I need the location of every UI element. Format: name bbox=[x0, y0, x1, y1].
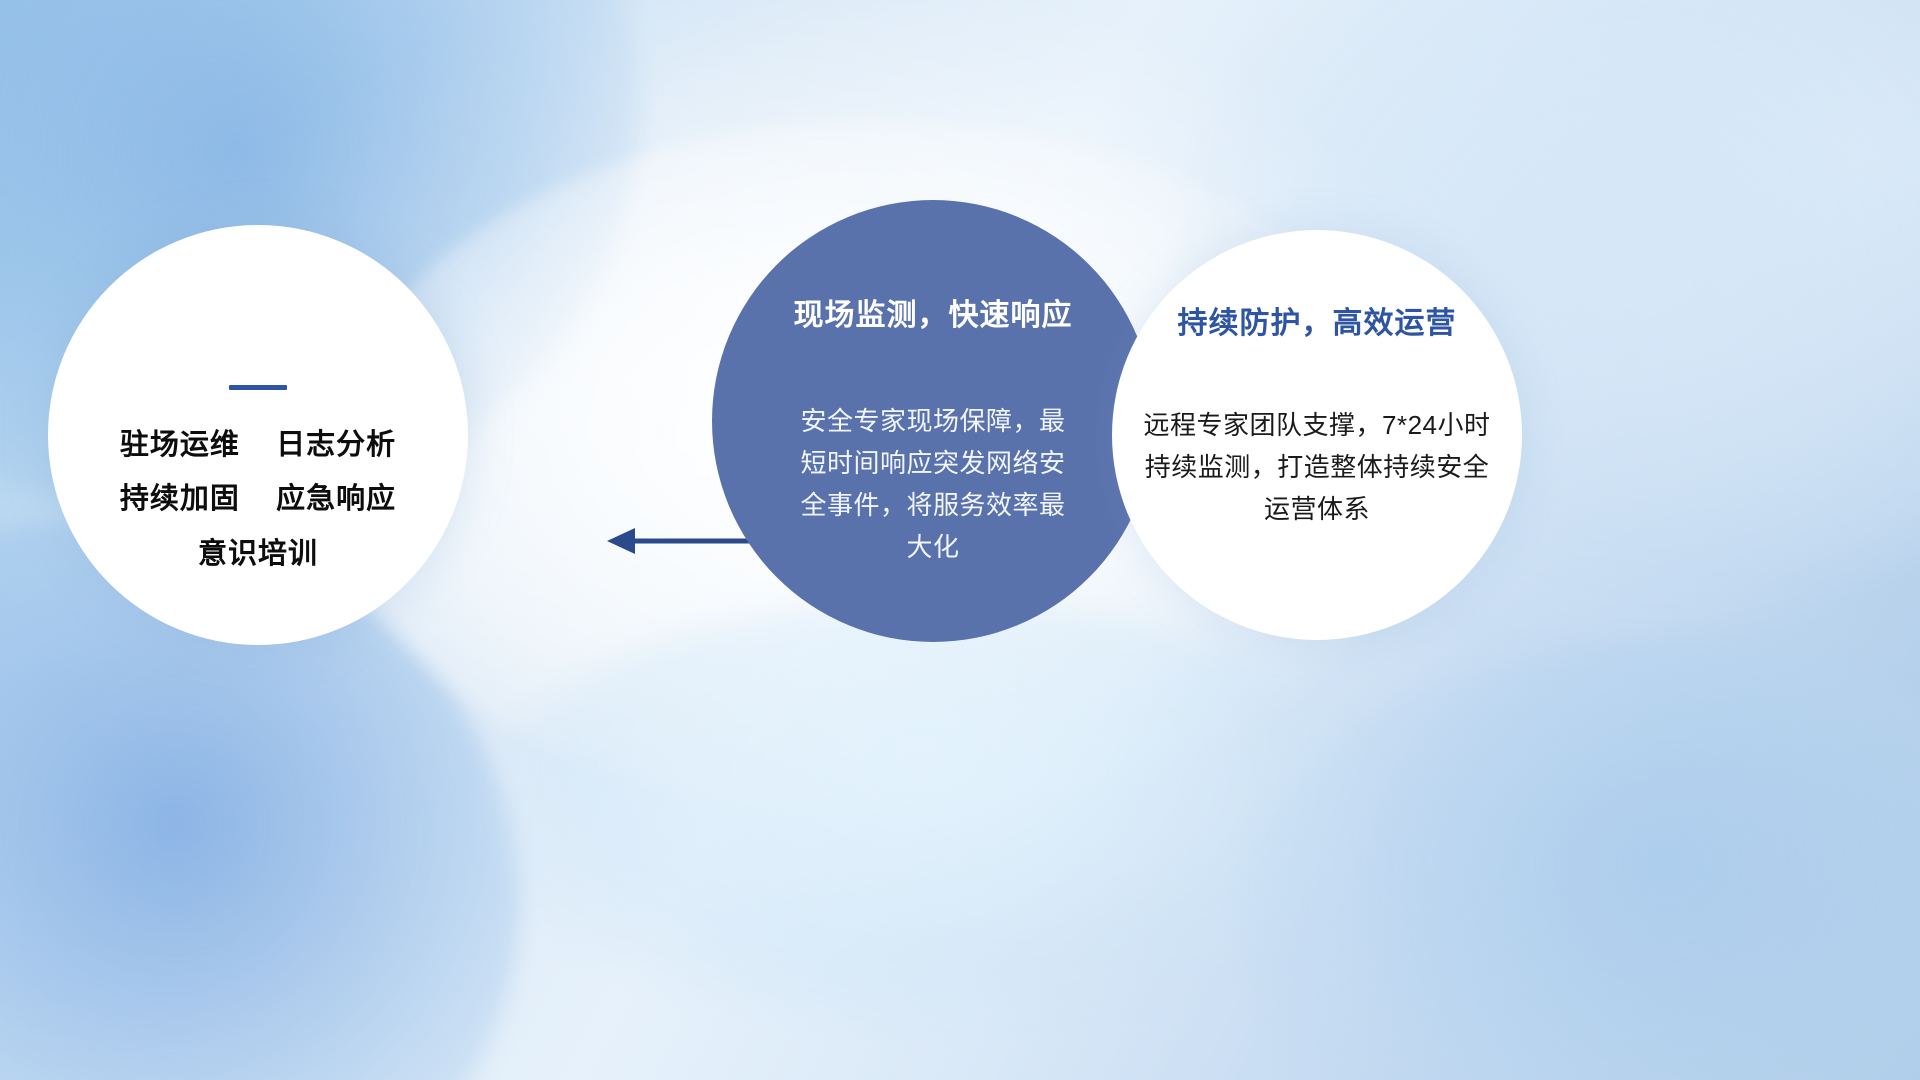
capability-line: 驻场运维 日志分析 bbox=[48, 430, 468, 460]
capability-circle-left: 驻场运维 日志分析 持续加固 应急响应 意识培训 bbox=[48, 225, 468, 645]
service-body-continuous: 远程专家团队支撑，7*24小时持续监测，打造整体持续安全运营体系 bbox=[1143, 404, 1491, 530]
capability-line: 持续加固 应急响应 bbox=[48, 484, 468, 514]
service-title-onsite: 现场监测，快速响应 bbox=[794, 290, 1073, 334]
service-body-onsite: 安全专家现场保障，最短时间响应突发网络安全事件，将服务效率最大化 bbox=[793, 400, 1073, 568]
service-title-continuous: 持续防护，高效运营 bbox=[1178, 298, 1457, 342]
service-circle-continuous: 持续防护，高效运营 远程专家团队支撑，7*24小时持续监测，打造整体持续安全运营… bbox=[1112, 230, 1522, 640]
divider-dash bbox=[229, 385, 287, 390]
background-glow-bottom bbox=[480, 600, 1380, 1020]
capability-list: 驻场运维 日志分析 持续加固 应急响应 意识培训 bbox=[48, 430, 468, 569]
background-glow-bottom-right bbox=[1240, 640, 1920, 1080]
capability-line: 意识培训 bbox=[48, 539, 468, 569]
diagram-canvas: 驻场运维 日志分析 持续加固 应急响应 意识培训 现场监测，快速响应 安全专家现… bbox=[0, 0, 1920, 1080]
service-circle-onsite: 现场监测，快速响应 安全专家现场保障，最短时间响应突发网络安全事件，将服务效率最… bbox=[712, 200, 1154, 642]
